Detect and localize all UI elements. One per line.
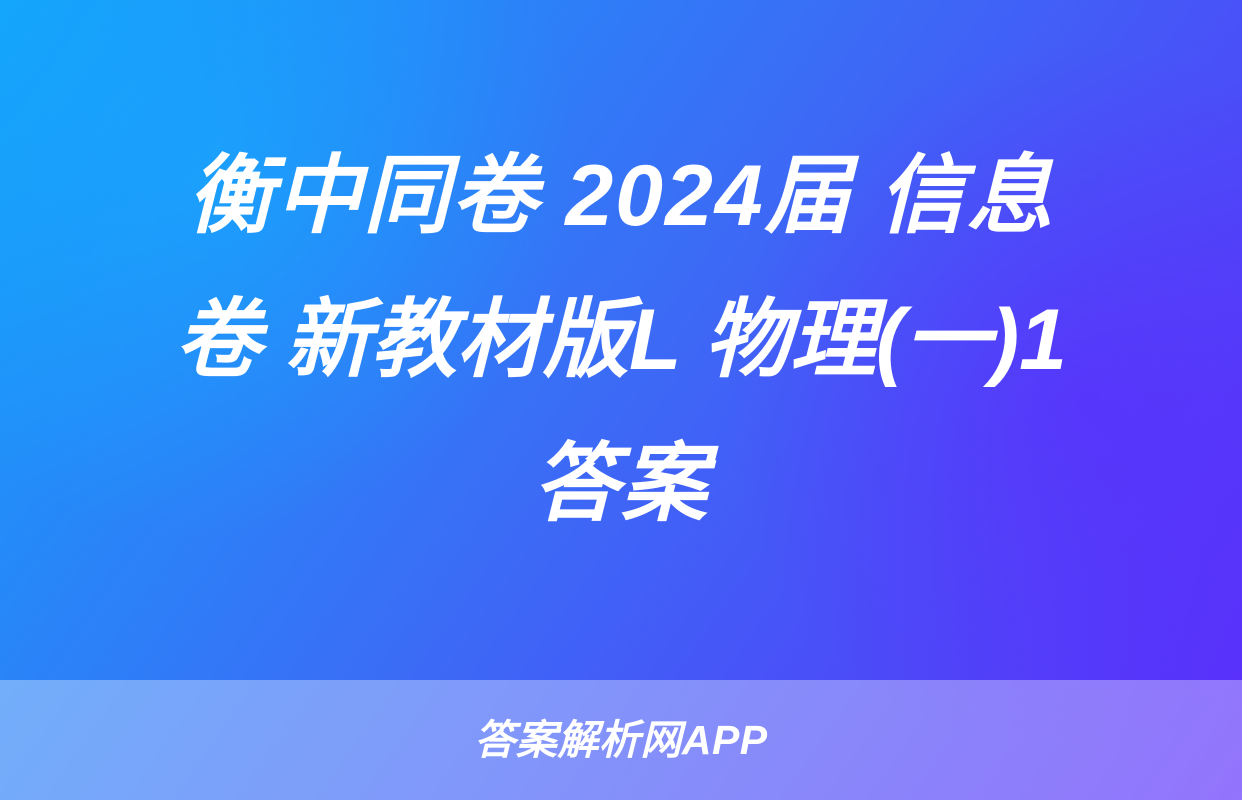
title-line-1: 衡中同卷 2024届 信息 [86, 124, 1156, 268]
page-title: 衡中同卷 2024届 信息 卷 新教材版L 物理(一)1 答案 [0, 0, 1242, 680]
title-line-3: 答案 [86, 412, 1156, 556]
poster-banner: 衡中同卷 2024届 信息 卷 新教材版L 物理(一)1 答案 答案解析网APP [0, 0, 1242, 800]
title-line-2: 卷 新教材版L 物理(一)1 [86, 268, 1156, 412]
footer-watermark-band: 答案解析网APP [0, 680, 1242, 800]
app-brand-label: 答案解析网APP [474, 720, 767, 761]
